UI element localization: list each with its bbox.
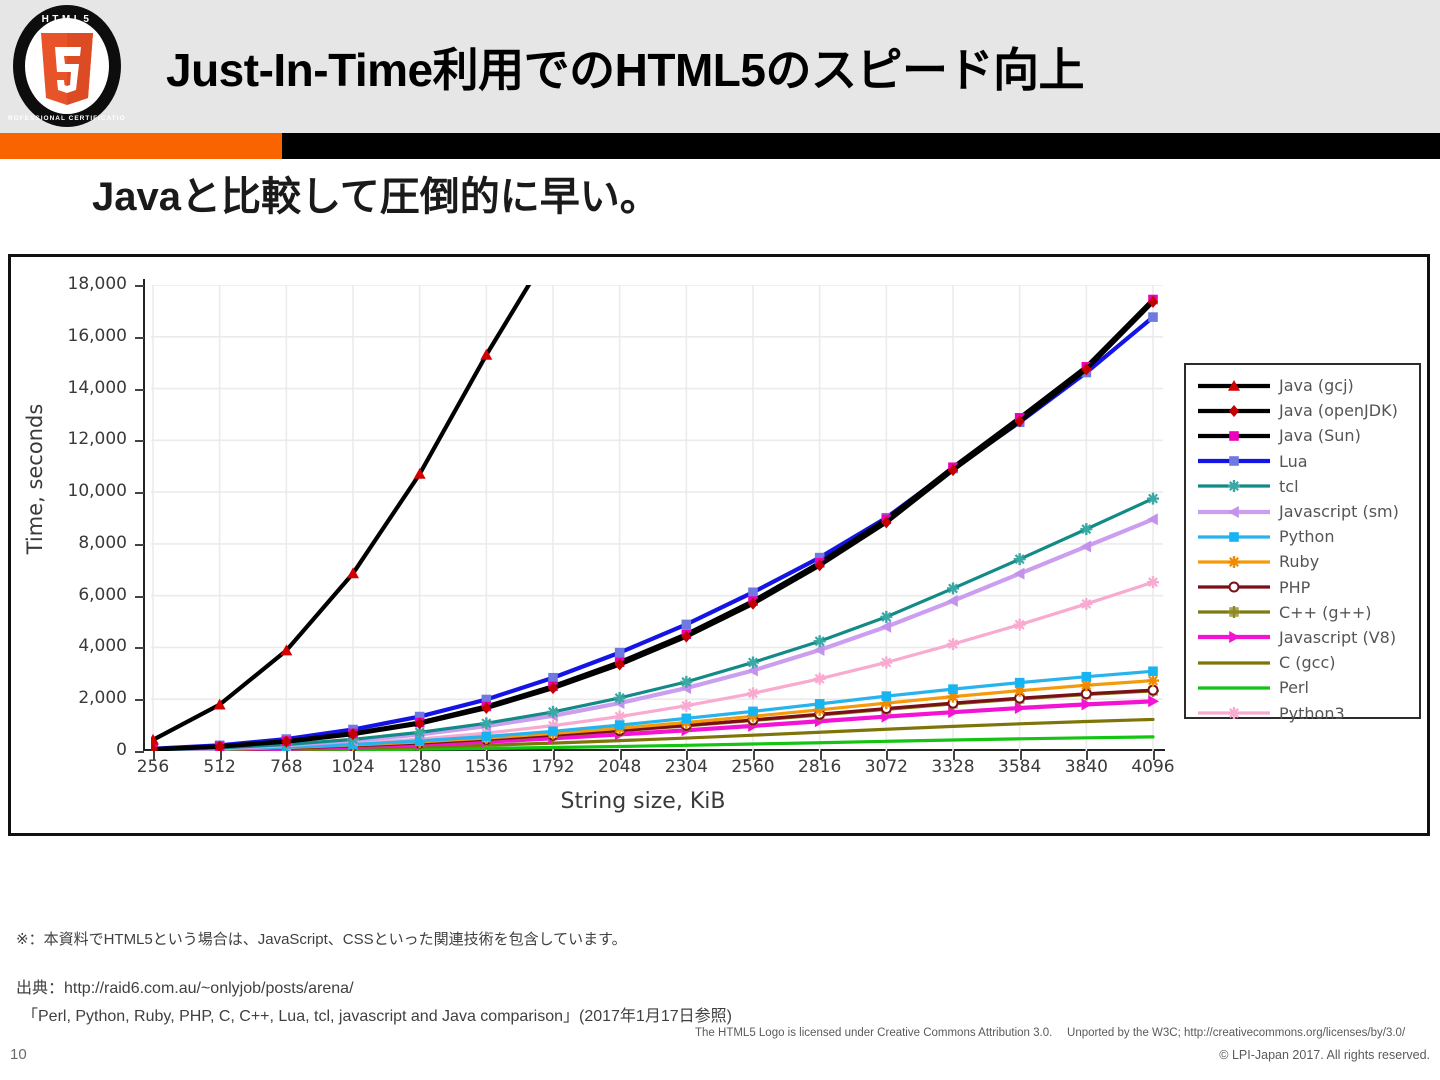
x-tick-mark: [886, 751, 888, 760]
x-tick-label: 768: [251, 757, 321, 777]
legend-label: Javascript (V8): [1279, 628, 1396, 647]
legend-item: C (gcc): [1196, 650, 1419, 675]
legend-label: Python3: [1279, 704, 1345, 723]
x-tick-mark: [1020, 751, 1022, 760]
legend-item: tcl: [1196, 474, 1419, 499]
legend-item: Javascript (sm): [1196, 499, 1419, 524]
source-url: 出典：http://raid6.com.au/~onlyjob/posts/ar…: [16, 974, 354, 998]
legend-label: Ruby: [1279, 552, 1319, 571]
x-tick-label: 3584: [985, 757, 1055, 777]
legend-label: tcl: [1279, 477, 1299, 496]
license-text: The HTML5 Logo is licensed under Creativ…: [695, 1024, 1405, 1040]
legend-swatch-none-icon: [1196, 653, 1272, 673]
x-tick-mark: [153, 751, 155, 760]
x-tick-label: 2560: [718, 757, 788, 777]
slide-subtitle: Javaと比較して圧倒的に早い。: [92, 164, 660, 222]
legend-label: Javascript (sm): [1279, 502, 1399, 521]
y-tick-label: 14,000: [17, 378, 127, 398]
y-tick-label: 2,000: [17, 688, 127, 708]
y-tick-mark: [135, 492, 144, 494]
legend-swatch-triangle-left-icon: [1196, 502, 1272, 522]
y-tick-label: 18,000: [17, 274, 127, 294]
y-tick-mark: [135, 596, 144, 598]
y-tick-mark: [135, 389, 144, 391]
x-tick-mark: [953, 751, 955, 760]
legend-label: C++ (g++): [1279, 603, 1372, 622]
y-tick-label: 4,000: [17, 636, 127, 656]
legend-item: Java (gcj): [1196, 373, 1419, 398]
x-tick-mark: [486, 751, 488, 760]
html5-logo: HTML5 PROFESSIONAL CERTIFICATION: [8, 2, 126, 130]
y-tick-label: 16,000: [17, 326, 127, 346]
x-tick-label: 256: [118, 757, 188, 777]
x-tick-mark: [220, 751, 222, 760]
x-tick-label: 2816: [785, 757, 855, 777]
x-tick-label: 2048: [585, 757, 655, 777]
legend-swatch-triangle-icon: [1196, 376, 1272, 396]
legend-label: Java (Sun): [1279, 426, 1361, 445]
legend-item: Perl: [1196, 675, 1419, 700]
y-tick-label: 10,000: [17, 481, 127, 501]
x-tick-label: 3072: [851, 757, 921, 777]
legend-label: Java (gcj): [1279, 376, 1354, 395]
page-number: 10: [10, 1046, 27, 1063]
legend-swatch-square-icon: [1196, 451, 1272, 471]
y-tick-mark: [135, 285, 144, 287]
legend-swatch-asterisk-icon: [1196, 476, 1272, 496]
legend-swatch-circle-icon: [1196, 577, 1272, 597]
x-tick-mark: [1086, 751, 1088, 760]
x-tick-mark: [1153, 751, 1155, 760]
slide-header: HTML5 PROFESSIONAL CERTIFICATION Just-In…: [0, 0, 1440, 133]
legend-item: Python: [1196, 524, 1419, 549]
x-tick-label: 3328: [918, 757, 988, 777]
y-tick-label: 8,000: [17, 533, 127, 553]
y-tick-mark: [135, 647, 144, 649]
x-tick-label: 2304: [651, 757, 721, 777]
legend-swatch-star-icon: [1196, 552, 1272, 572]
legend-label: Perl: [1279, 678, 1309, 697]
legend-swatch-square-icon: [1196, 426, 1272, 446]
y-tick-mark: [135, 337, 144, 339]
legend-item: PHP: [1196, 575, 1419, 600]
legend-swatch-triangle-right-icon: [1196, 627, 1272, 647]
x-tick-mark: [753, 751, 755, 760]
x-tick-label: 1536: [451, 757, 521, 777]
y-tick-label: 6,000: [17, 585, 127, 605]
legend-item: C++ (g++): [1196, 600, 1419, 625]
legend-item: Java (openJDK): [1196, 398, 1419, 423]
x-tick-label: 1280: [385, 757, 455, 777]
legend-label: C (gcc): [1279, 653, 1336, 672]
page-title: Just-In-Time利用でのHTML5のスピード向上: [166, 0, 1416, 133]
y-tick-mark: [135, 699, 144, 701]
svg-text:PROFESSIONAL CERTIFICATION: PROFESSIONAL CERTIFICATION: [8, 115, 126, 122]
x-tick-label: 1024: [318, 757, 388, 777]
legend-item: Java (Sun): [1196, 423, 1419, 448]
legend-swatch-plus-box-icon: [1196, 602, 1272, 622]
legend-label: PHP: [1279, 578, 1310, 597]
y-tick-mark: [135, 751, 144, 753]
legend-label: Python: [1279, 527, 1334, 546]
legend-item: Javascript (V8): [1196, 625, 1419, 650]
legend-item: Python3: [1196, 700, 1419, 725]
x-tick-label: 512: [185, 757, 255, 777]
x-axis-title: String size, KiB: [343, 789, 943, 814]
legend-label: Java (openJDK): [1279, 401, 1398, 420]
orange-accent-bar: [0, 133, 282, 159]
legend-item: Ruby: [1196, 549, 1419, 574]
x-tick-mark: [620, 751, 622, 760]
source-title: 「Perl, Python, Ruby, PHP, C, C++, Lua, t…: [22, 1002, 732, 1026]
x-tick-mark: [286, 751, 288, 760]
chart-container: Time, seconds String size, KiB Java (gcj…: [8, 254, 1430, 836]
x-tick-mark: [820, 751, 822, 760]
plot-area: [151, 285, 1163, 751]
y-tick-mark: [135, 440, 144, 442]
chart-legend: Java (gcj)Java (openJDK)Java (Sun)Luatcl…: [1184, 363, 1421, 719]
legend-label: Lua: [1279, 452, 1308, 471]
copyright-text: © LPI-Japan 2017. All rights reserved.: [1219, 1048, 1430, 1062]
legend-swatch-asterisk-icon: [1196, 703, 1272, 723]
footnote-text: ※：本資料でHTML5という場合は、JavaScript、CSSといった関連技術…: [16, 928, 627, 949]
x-tick-mark: [420, 751, 422, 760]
y-tick-label: 12,000: [17, 429, 127, 449]
html5-badge-icon: HTML5 PROFESSIONAL CERTIFICATION: [8, 2, 126, 130]
x-tick-mark: [553, 751, 555, 760]
x-tick-mark: [353, 751, 355, 760]
y-tick-label: 0: [17, 740, 127, 760]
x-tick-label: 4096: [1118, 757, 1188, 777]
svg-text:HTML5: HTML5: [42, 14, 93, 25]
chart-lines-svg: [151, 285, 1163, 751]
y-tick-mark: [135, 544, 144, 546]
legend-swatch-square-icon: [1196, 527, 1272, 547]
black-accent-bar: [282, 133, 1440, 159]
x-tick-label: 3840: [1051, 757, 1121, 777]
x-tick-label: 1792: [518, 757, 588, 777]
x-tick-mark: [686, 751, 688, 760]
legend-swatch-none-icon: [1196, 678, 1272, 698]
legend-item: Lua: [1196, 449, 1419, 474]
legend-swatch-diamond-icon: [1196, 401, 1272, 421]
